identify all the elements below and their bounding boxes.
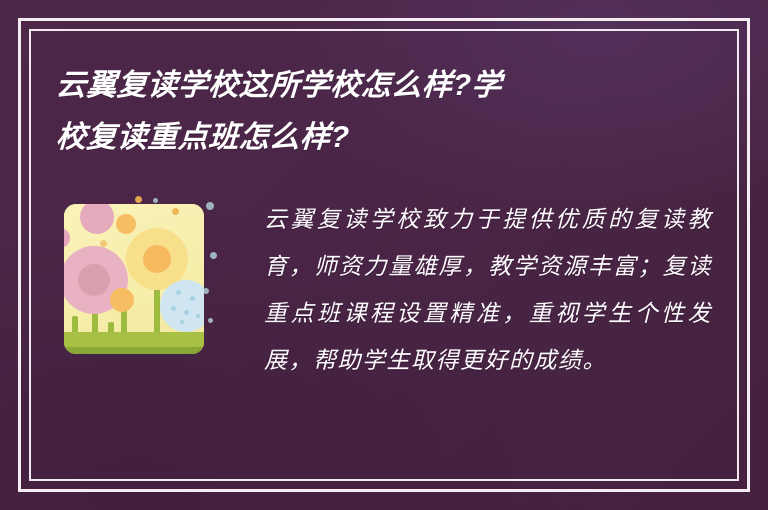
dandelion-seed-icon: [180, 320, 184, 324]
yellow-flower-center-icon: [143, 245, 171, 273]
floating-dot-icon: [135, 196, 142, 203]
dandelion-seed-icon: [184, 310, 189, 315]
content-row: 云翼复读学校致力于提供优质的复读教育，师资力量雄厚，教学资源丰富；复读重点班课程…: [56, 196, 712, 384]
floating-dot-icon: [153, 198, 158, 203]
floating-dot-icon: [208, 318, 213, 323]
orange-bud-icon: [116, 214, 136, 234]
dandelion-seed-icon: [176, 290, 181, 295]
orange-bud-icon: [172, 208, 179, 215]
title-line-2: 校复读重点班怎么样?: [55, 112, 698, 164]
dandelion-seed-icon: [190, 296, 195, 301]
orange-bud-icon: [110, 288, 134, 312]
flat-flower-field-illustration: [56, 196, 218, 368]
title-line-1: 云翼复读学校这所学校怎么样?学: [55, 60, 698, 112]
poster-canvas: 云翼复读学校这所学校怎么样?学 校复读重点班怎么样?: [0, 0, 768, 510]
floating-dot-icon: [210, 252, 217, 259]
grass-band: [64, 332, 204, 354]
grass-shadow-band: [64, 347, 204, 354]
body-paragraph: 云翼复读学校致力于提供优质的复读教育，师资力量雄厚，教学资源丰富；复读重点班课程…: [264, 196, 712, 384]
floating-dot-icon: [206, 202, 214, 210]
pink-flower-center-icon: [78, 264, 110, 296]
dandelion-seed-icon: [171, 306, 176, 311]
page-title: 云翼复读学校这所学校怎么样?学 校复读重点班怎么样?: [56, 60, 696, 164]
illustration-card: [64, 204, 204, 354]
blue-dandelion-puff-icon: [160, 280, 204, 332]
dandelion-seed-icon: [196, 314, 200, 318]
